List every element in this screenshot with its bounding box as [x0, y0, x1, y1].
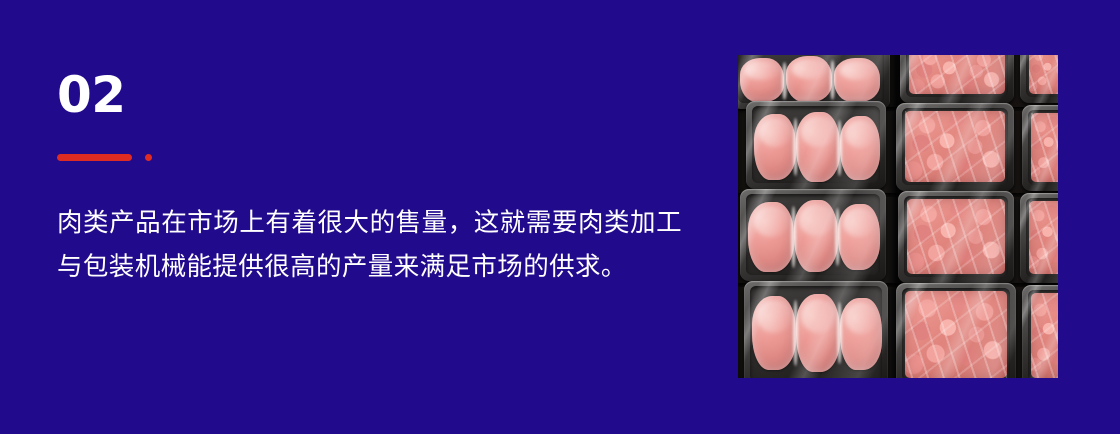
slide-number: 02 [57, 68, 697, 122]
divider [57, 154, 217, 162]
pork-chop [752, 296, 796, 370]
meat-tray [896, 283, 1016, 378]
fat-trim [837, 120, 842, 176]
pork-chop [794, 200, 838, 272]
pork-chop [754, 114, 796, 180]
body-paragraph: 肉类产品在市场上有着很大的售量，这就需要肉类加工与包装机械能提供很高的产量来满足… [57, 201, 682, 289]
pork-chop [748, 202, 794, 272]
meat-tray [898, 191, 1014, 283]
tray-well [1028, 110, 1058, 185]
meat-tray [746, 101, 886, 189]
sliced-meat-pile [905, 291, 1007, 378]
pork-chop [840, 298, 882, 370]
sliced-meat-pile [909, 55, 1005, 94]
meat-tray [744, 281, 888, 378]
photo-inner [738, 55, 1058, 378]
meat-tray [1022, 105, 1058, 191]
sliced-meat-pile [907, 199, 1005, 274]
fat-trim [782, 62, 787, 100]
tray-well [752, 106, 880, 183]
meat-tray-photo [738, 55, 1058, 378]
tray-well [746, 194, 880, 275]
sliced-meat-pile [1031, 293, 1058, 378]
fat-trim [830, 60, 835, 100]
meat-tray [740, 189, 886, 281]
pork-chop [740, 58, 784, 102]
pork-chop [838, 204, 880, 270]
tray-well [902, 108, 1008, 185]
meat-tray [1022, 285, 1058, 378]
sliced-meat-pile [1031, 113, 1058, 182]
pork-chop [834, 58, 880, 102]
tray-well [1026, 55, 1058, 97]
sliced-meat-pile [1029, 201, 1058, 274]
meat-tray [900, 55, 1014, 103]
pork-chop [786, 56, 832, 102]
tray-well [906, 55, 1008, 97]
pork-chop [840, 116, 880, 180]
text-content-block: 02 肉类产品在市场上有着很大的售量，这就需要肉类加工与包装机械能提供很高的产量… [57, 68, 697, 289]
fat-trim [793, 118, 798, 176]
pork-chop [796, 112, 840, 182]
meat-tray [1020, 193, 1058, 283]
meat-tray [896, 103, 1014, 191]
tray-well [1028, 290, 1058, 378]
meat-tray [1020, 55, 1058, 103]
slide-root: 02 肉类产品在市场上有着很大的售量，这就需要肉类加工与包装机械能提供很高的产量… [0, 0, 1120, 434]
divider-bar-icon [57, 154, 132, 161]
pork-chop [796, 294, 840, 372]
tray-well [738, 55, 884, 103]
tray-well [904, 196, 1008, 277]
tray-well [750, 286, 882, 378]
tray-well [1026, 198, 1058, 277]
sliced-meat-pile [905, 111, 1005, 182]
divider-dot-icon [145, 154, 152, 161]
fat-trim [835, 208, 840, 266]
tray-well [902, 288, 1010, 378]
sliced-meat-pile [1029, 55, 1058, 94]
fat-trim [837, 302, 842, 364]
fat-trim [793, 300, 798, 366]
fat-trim [791, 206, 796, 268]
